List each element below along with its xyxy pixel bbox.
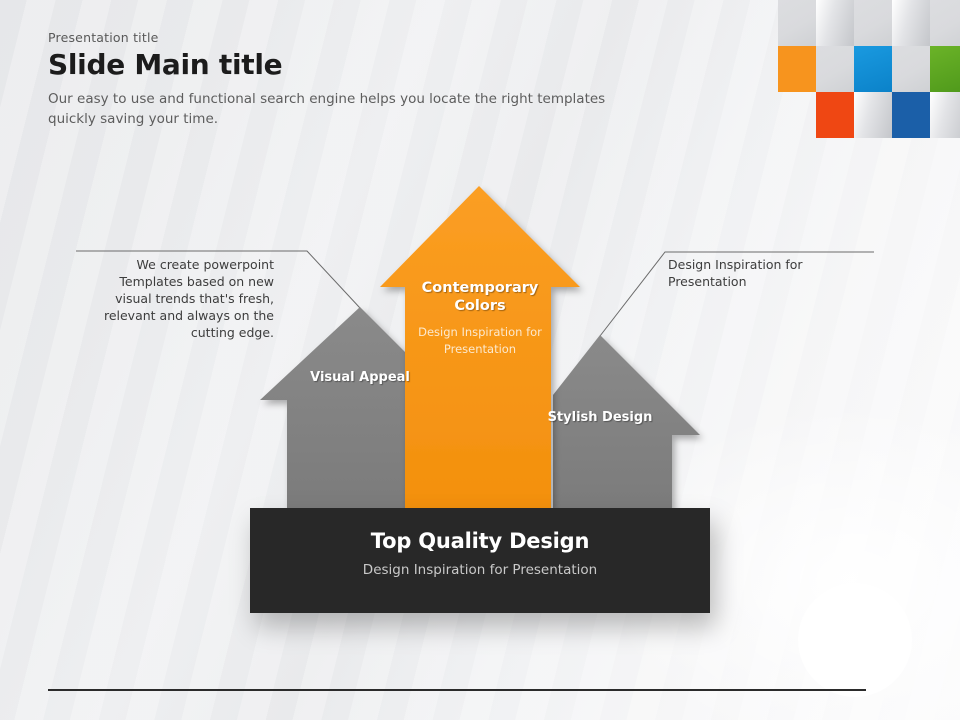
arrow-shape-right[interactable] <box>553 335 700 512</box>
banner-subtitle: Design Inspiration for Presentation <box>250 553 710 578</box>
arrow-shape-left[interactable] <box>260 307 405 512</box>
slide-canvas: Presentation title Slide Main title Our … <box>0 0 960 720</box>
arrow-shape-center[interactable] <box>380 186 580 512</box>
banner-title: Top Quality Design <box>250 508 710 553</box>
footer-divider <box>48 689 866 691</box>
callout-left-text: We create powerpoint Templates based on … <box>80 257 274 341</box>
bottom-banner[interactable]: Top Quality Design Design Inspiration fo… <box>250 508 710 613</box>
callout-right-text: Design Inspiration for Presentation <box>668 257 878 291</box>
